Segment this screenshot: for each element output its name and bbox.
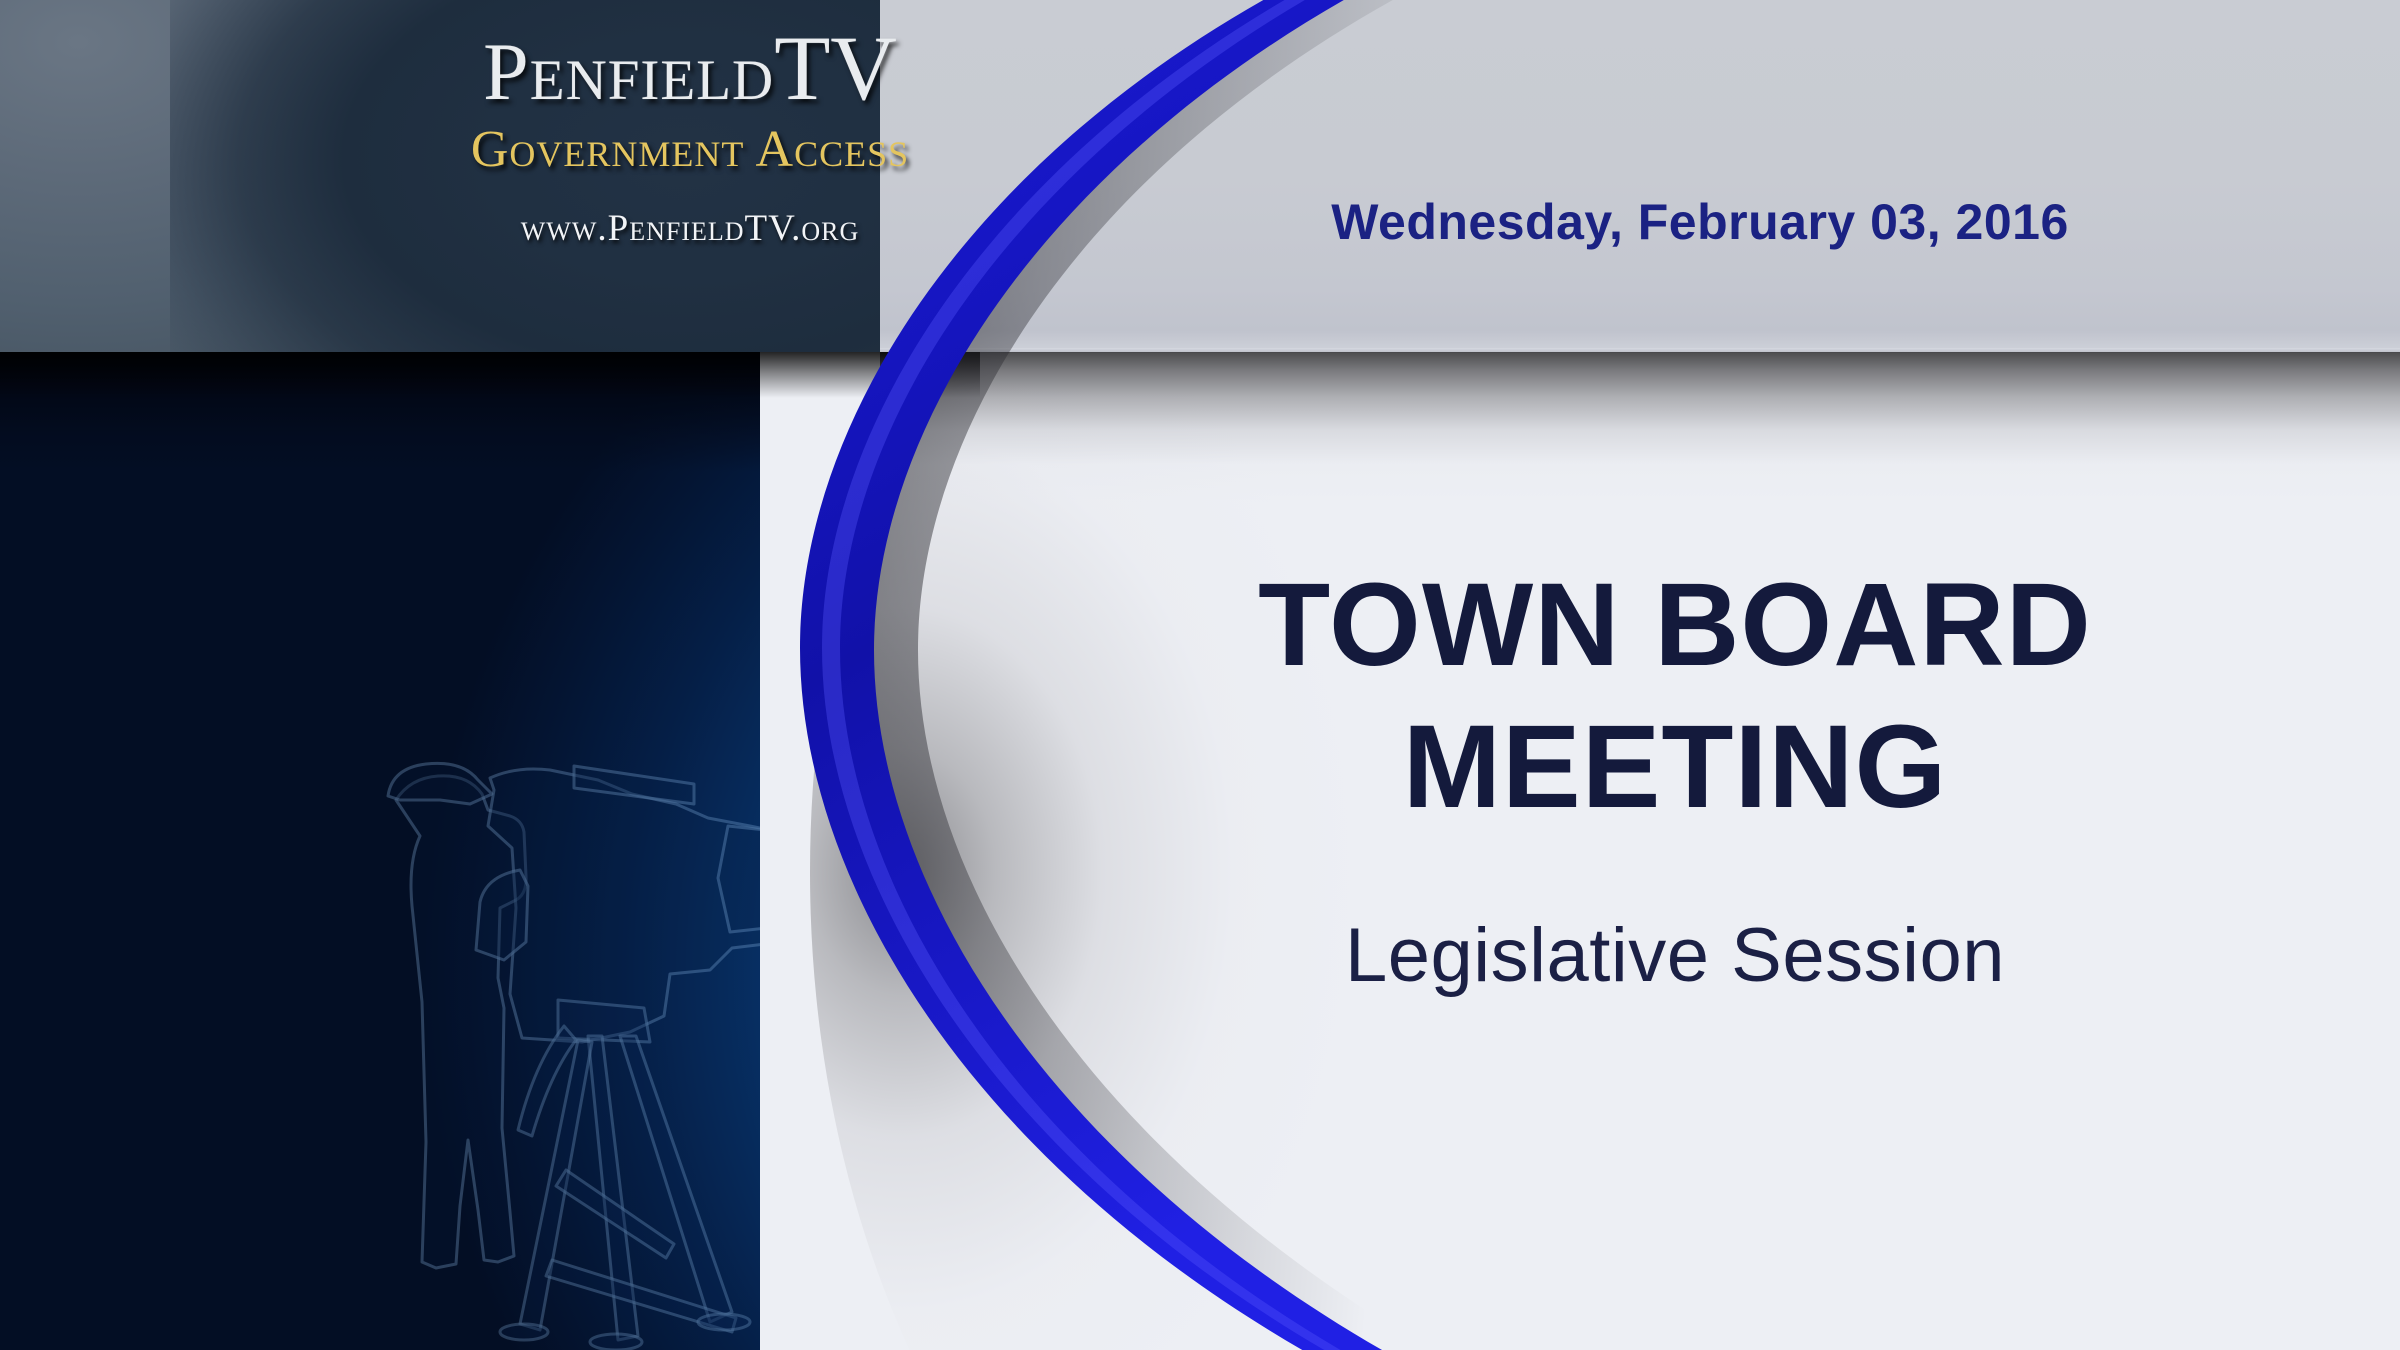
logo-wordmark-penfield: Penfield — [483, 26, 774, 117]
station-logo: PenfieldTV Government Access www.Penfiel… — [400, 22, 980, 250]
header-right-gray — [880, 0, 2400, 352]
program-subtitle: Legislative Session — [1060, 912, 2290, 999]
logo-tagline: Government Access — [400, 120, 980, 179]
logo-wordmark: PenfieldTV — [400, 22, 980, 114]
logo-website-url: www.PenfieldTV.org — [400, 207, 980, 250]
header-drop-shadow-left — [0, 352, 980, 398]
program-title: TOWN BOARD MEETING — [1060, 555, 2290, 838]
header-band — [0, 0, 2400, 352]
logo-wordmark-tv: TV — [774, 17, 897, 119]
program-title-line-1: TOWN BOARD — [1060, 555, 2290, 697]
broadcast-title-card: PenfieldTV Government Access www.Penfiel… — [0, 0, 2400, 1350]
program-title-line-2: MEETING — [1060, 697, 2290, 839]
meeting-date: Wednesday, February 03, 2016 — [1200, 193, 2200, 251]
header-drop-shadow-right — [880, 352, 2400, 502]
